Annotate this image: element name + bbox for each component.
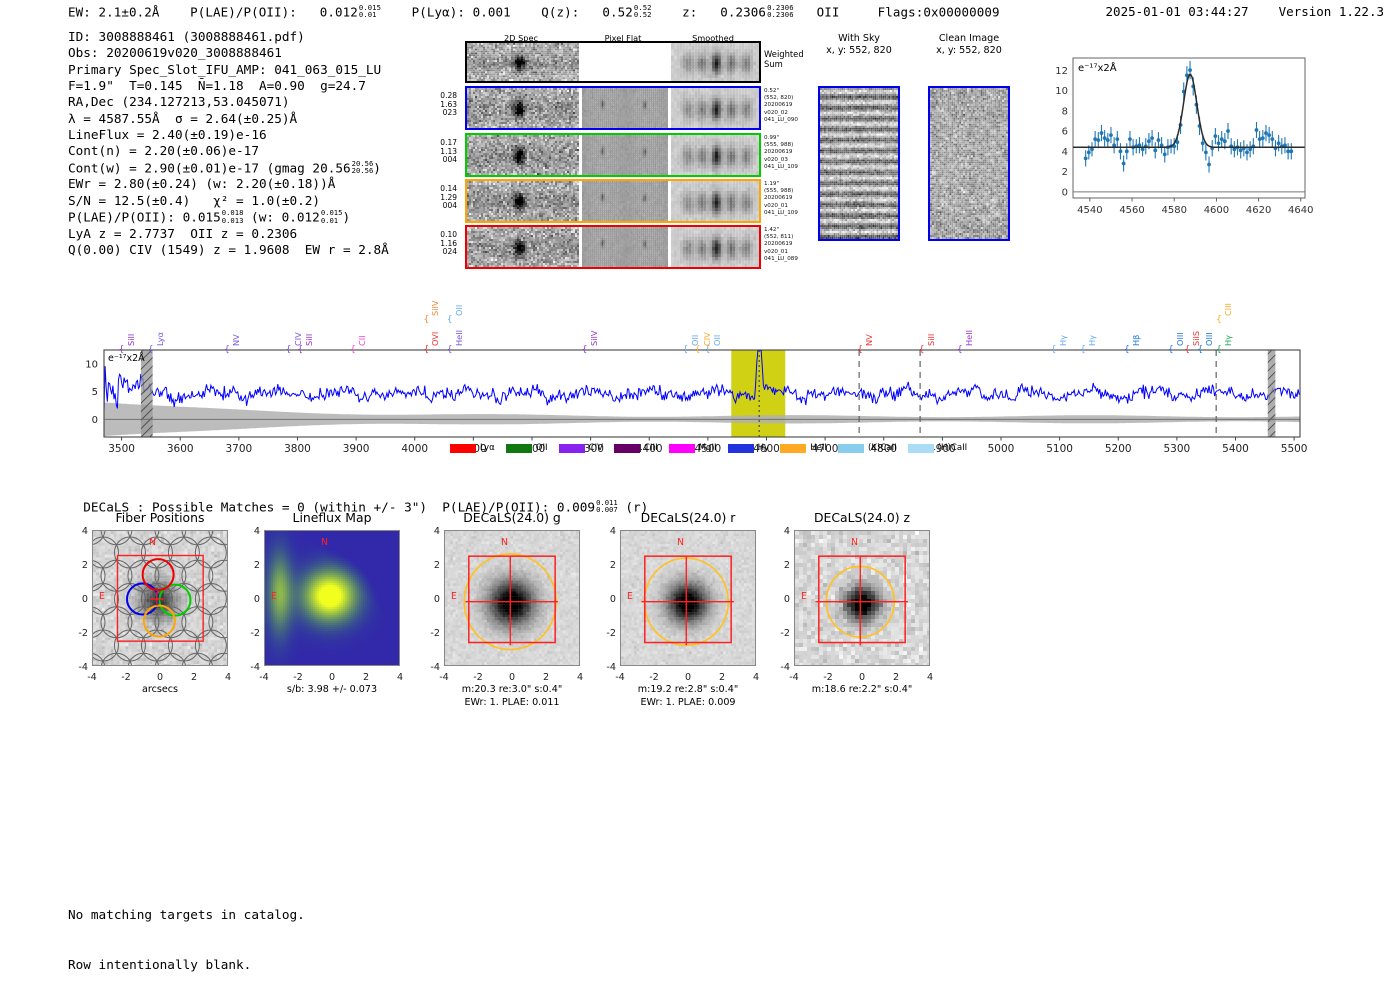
strip-row-info-line: (552, 811)	[764, 234, 826, 241]
header-ew: EW: 2.1±0.2Å	[68, 4, 160, 19]
spectrum-line-bracket-icon: {	[957, 345, 963, 355]
spectrum-legend: LyαOIICIVCIIIMgIIHyHeII(K)CaII(H)CaII	[450, 443, 967, 453]
strip-row-info-2: 0.99"(555, 988)20200619v020_03041_LU_109	[764, 135, 826, 171]
cutout-ytick: -2	[240, 628, 260, 639]
cutout-image: NE	[264, 530, 400, 666]
cutout-caption: m:19.2 re:2.8" s:0.4"EWr: 1. PLAE: 0.009	[588, 684, 788, 709]
legend-swatch	[506, 444, 532, 453]
clean-image	[928, 86, 1010, 241]
spec-strip-row-2	[465, 133, 761, 177]
header-plae-range: 0.0150.01	[359, 4, 381, 19]
cutout-xtick: -4	[610, 672, 630, 683]
cutout-ytick: -2	[596, 628, 616, 639]
strip-row-info-line: 1.19"	[764, 181, 826, 188]
spectrum-line-label: Lyα	[155, 332, 165, 346]
strip-smoothed-3	[671, 181, 759, 221]
full-spectrum-chart: 0510350036003700380039004000410042004300…	[62, 278, 1314, 463]
meta-cont-w: Cont(w) = 2.90(±0.01)e-17 (gmag 20.5620.…	[68, 160, 389, 177]
source-metadata-block: ID: 3008888461 (3008888461.pdf)Obs: 2020…	[68, 29, 389, 258]
spectrum-line-label: NV	[231, 334, 241, 346]
spectrum-line-bracket-icon: {	[447, 345, 453, 355]
cutout-ytick: 4	[770, 526, 790, 537]
weighted-sum-line: Sum	[764, 59, 804, 69]
meta-line-7: Cont(n) = 2.20(±0.06)e-17	[68, 143, 389, 159]
spectrum-line-label: OII	[712, 335, 722, 346]
spectral-strips-panel: 2D SpecPixel FlatSmoothed0.281.630230.52…	[425, 33, 760, 255]
legend-swatch	[614, 444, 640, 453]
cutout-ytick: 2	[420, 560, 440, 571]
svg-text:4: 4	[1062, 147, 1068, 158]
strip-pixelflat-3	[582, 181, 668, 221]
cutout-caption-line1: m:20.3 re:3.0" s:0.4"	[412, 684, 612, 697]
spectrum-line-label: SiIS	[1191, 331, 1201, 346]
cutout-caption: m:18.6 re:2.2" s:0.4"	[762, 684, 962, 697]
header-z-species: OII	[817, 4, 840, 19]
cutout-xtick: -4	[254, 672, 274, 683]
cutout-caption-line1: arcsecs	[60, 684, 260, 697]
cutout-panel-fiber-0: Fiber PositionsNE420-2-4-4-2024arcsecs	[60, 510, 260, 697]
cutout-caption-line1: m:19.2 re:2.8" s:0.4"	[588, 684, 788, 697]
cutout-ytick: 0	[68, 594, 88, 605]
header-qz-value: 0.52	[602, 4, 633, 19]
spectrum-trace	[104, 351, 1299, 411]
cutout-xtick: 0	[678, 672, 698, 683]
cutout-xtick: -4	[434, 672, 454, 683]
cutout-image: NE	[794, 530, 930, 666]
cutout-title: Fiber Positions	[60, 510, 260, 525]
cutout-xtick: -4	[784, 672, 804, 683]
svg-text:4600: 4600	[1204, 205, 1229, 216]
strip-row-info-line: v020_02	[764, 110, 826, 117]
strip-row-value: 004	[423, 156, 457, 165]
cutout-xtick: 4	[570, 672, 590, 683]
no-match-line-2: Row intentionally blank.	[68, 957, 305, 974]
svg-text:0: 0	[1062, 188, 1068, 199]
cutout-xtick: 4	[390, 672, 410, 683]
spectrum-line-label: HeII	[964, 330, 974, 346]
cutout-xtick: 0	[150, 672, 170, 683]
strip-row-info-4: 1.42"(552, 811)20200619v020_01041_LU_089	[764, 227, 826, 263]
cutout-title: DECaLS(24.0) g	[412, 510, 612, 525]
skyclean-coords: x, y: 552, 820	[796, 45, 922, 57]
cutout-xtick: 4	[920, 672, 940, 683]
spectrum-line-label: HeII	[454, 330, 464, 346]
spectrum-line-bracket-icon: {	[1168, 345, 1174, 355]
header-z-range: 0.23060.2306	[767, 4, 794, 19]
strip-row-info-line: (555, 988)	[764, 142, 826, 149]
meta-line-2: Primary Spec_Slot_IFU_AMP: 041_063_015_L…	[68, 62, 389, 78]
cutout-xtick: 0	[322, 672, 342, 683]
spectrum-line-bracket-icon: {	[423, 345, 429, 355]
legend-label: MgII	[699, 443, 717, 453]
cutout-caption-line1: m:18.6 re:2.2" s:0.4"	[762, 684, 962, 697]
spectrum-line-label: CIV	[702, 332, 712, 346]
svg-text:3600: 3600	[167, 443, 194, 455]
cutout-xtick: -2	[288, 672, 308, 683]
compass-north-label: N	[677, 537, 684, 548]
strip-row-info-line: 20200619	[764, 195, 826, 202]
skyclean-title-0: With Skyx, y: 552, 820	[796, 33, 922, 56]
cutout-ytick: -2	[420, 628, 440, 639]
svg-text:8: 8	[1062, 106, 1068, 117]
spectrum-line-label: Hβ	[1131, 335, 1141, 346]
no-match-line-1: No matching targets in catalog.	[68, 907, 305, 924]
full-spectrum-svg: 0510350036003700380039004000410042004300…	[62, 278, 1314, 463]
svg-text:10: 10	[85, 359, 98, 370]
legend-label: (K)CaII	[868, 443, 897, 453]
svg-text:4620: 4620	[1246, 205, 1271, 216]
svg-text:4640: 4640	[1288, 205, 1313, 216]
legend-label: OII	[536, 443, 548, 453]
legend-swatch	[838, 444, 864, 453]
svg-text:5000: 5000	[988, 443, 1015, 455]
cutout-ytick: 2	[68, 560, 88, 571]
cutout-ytick: 0	[770, 594, 790, 605]
strip-row-values-3: 0.141.29004	[423, 185, 457, 211]
svg-text:3700: 3700	[225, 443, 252, 455]
spectrum-line-bracket-icon: {	[1124, 345, 1130, 355]
strip-row-info-line: 20200619	[764, 102, 826, 109]
strip-row-info-3: 1.19"(555, 988)20200619v020_01041_LU_109	[764, 181, 826, 217]
cutout-panel-image-2: DECaLS(24.0) gNE420-2-4-4-2024m:20.3 re:…	[412, 510, 612, 709]
spectrum-line-label: OIII	[1204, 332, 1214, 346]
svg-text:4580: 4580	[1162, 205, 1187, 216]
emission-zoom-units: e⁻¹⁷x2Å	[1078, 61, 1117, 74]
legend-swatch	[780, 444, 806, 453]
strip-row-info-line: 1.42"	[764, 227, 826, 234]
cutout-ytick: 4	[240, 526, 260, 537]
spectrum-line-label: SiII	[304, 334, 314, 346]
svg-text:6: 6	[1062, 127, 1068, 138]
header-version: Version 1.22.3	[1279, 4, 1384, 19]
cutout-xtick: -2	[468, 672, 488, 683]
strip-row-info-line: 20200619	[764, 149, 826, 156]
spectrum-line-bracket-icon: {	[119, 345, 125, 355]
strip-row-info-line: 041_LU_090	[764, 117, 826, 124]
header-timestamp-version: 2025-01-01 03:44:27 Version 1.22.3	[1106, 4, 1384, 19]
strip-2dspec-0	[467, 43, 579, 81]
spectrum-line-bracket-icon: {	[705, 345, 711, 355]
spectrum-line-bracket-icon: {	[447, 315, 453, 325]
spectrum-line-label: OVI	[430, 332, 440, 346]
cutout-xtick: 0	[852, 672, 872, 683]
compass-north-label: N	[321, 537, 328, 548]
cutout-overlay	[621, 531, 756, 666]
cutout-xtick: 2	[184, 672, 204, 683]
meta-ewr: EWr = 2.80(±0.24) (w: 2.20(±0.18))Å	[68, 176, 389, 192]
svg-text:5: 5	[92, 387, 98, 398]
strip-row-values-1: 0.281.63023	[423, 92, 457, 118]
skyclean-title-text: With Sky	[796, 33, 922, 45]
strip-smoothed-4	[671, 227, 759, 267]
compass-east-label: E	[801, 591, 807, 602]
svg-text:10: 10	[1055, 86, 1068, 97]
cutout-image: NE	[620, 530, 756, 666]
spectrum-line-label: Hγ	[1087, 335, 1097, 346]
strip-row-info-line: v020_03	[764, 157, 826, 164]
compass-east-label: E	[451, 591, 457, 602]
legend-label: CIV	[589, 443, 603, 453]
cutout-ytick: 2	[240, 560, 260, 571]
cutout-caption-line2: EWr: 1. PLAE: 0.009	[588, 697, 788, 710]
spec-strip-row-3	[465, 179, 761, 223]
emission-line-zoom-chart: 024681012454045604580460046204640e⁻¹⁷x2Å	[1035, 50, 1313, 228]
legend-entry-3: CIII	[614, 443, 658, 453]
spectrum-line-bracket-icon: {	[286, 345, 292, 355]
cutout-xtick: 2	[356, 672, 376, 683]
svg-text:4540: 4540	[1077, 205, 1102, 216]
spectrum-line-bracket-icon: {	[1216, 315, 1222, 325]
meta-line-1: Obs: 20200619v020_3008888461	[68, 45, 389, 61]
spectrum-line-bracket-icon: {	[297, 345, 303, 355]
spec-strip-row-4	[465, 225, 761, 269]
spectrum-line-label: CIII	[1223, 303, 1233, 316]
strip-row-info-line: v020_01	[764, 203, 826, 210]
spectrum-line-label: NV	[864, 334, 874, 346]
cutout-xtick: 2	[536, 672, 556, 683]
legend-swatch	[728, 444, 754, 453]
cutout-ytick: 4	[596, 526, 616, 537]
meta-redshifts: LyA z = 2.7737 OII z = 0.2306	[68, 226, 389, 242]
header-plae-label: P(LAE)/P(OII):	[190, 4, 297, 19]
meta-line-0: ID: 3008888461 (3008888461.pdf)	[68, 29, 389, 45]
cutout-panel-image-4: DECaLS(24.0) zNE420-2-4-4-2024m:18.6 re:…	[762, 510, 962, 697]
spec-strip-row-0	[465, 41, 761, 83]
spectrum-line-bracket-icon: {	[1080, 345, 1086, 355]
meta-line-3: F=1.9" T=0.145 N̄=1.18 A=0.90 g=24.7	[68, 78, 389, 94]
strip-row-info-line: (552, 820)	[764, 95, 826, 102]
spectrum-line-bracket-icon: {	[1197, 345, 1203, 355]
cutout-overlay	[795, 531, 930, 666]
spectrum-line-label: CIV	[293, 332, 303, 346]
spec-strip-row-1	[465, 86, 761, 130]
cutout-xtick: -2	[818, 672, 838, 683]
cutout-panel-image-3: DECaLS(24.0) rNE420-2-4-4-2024m:19.2 re:…	[588, 510, 788, 709]
cutout-title: DECaLS(24.0) r	[588, 510, 788, 525]
strip-row-info-line: 0.52"	[764, 88, 826, 95]
masked-band-1	[1268, 350, 1276, 437]
meta-line-4: RA,Dec (234.127213,53.045071)	[68, 94, 389, 110]
cutout-title: Lineflux Map	[232, 510, 432, 525]
compass-east-label: E	[99, 591, 105, 602]
cutout-image: NE	[444, 530, 580, 666]
header-plya: P(Lyα): 0.001	[412, 4, 511, 19]
skyclean-title-text: Clean Image	[906, 33, 1032, 45]
strip-row-values-4: 0.101.16024	[423, 231, 457, 257]
legend-entry-8: (H)CaII	[908, 443, 968, 453]
spectrum-line-label: OII	[454, 305, 464, 316]
cutout-caption-line1: s/b: 3.98 +/- 0.073	[232, 684, 432, 697]
spectrum-line-label: CII	[357, 335, 367, 346]
spectrum-line-bracket-icon: {	[857, 345, 863, 355]
strip-row-info-line: v020_01	[764, 249, 826, 256]
no-match-message: No matching targets in catalog. Row inte…	[68, 874, 305, 990]
legend-swatch	[450, 444, 476, 453]
svg-text:5400: 5400	[1222, 443, 1249, 455]
strip-pixelflat-0	[582, 43, 668, 81]
cutout-xtick: -2	[644, 672, 664, 683]
strip-row-info-1: 0.52"(552, 820)20200619v020_02041_LU_090	[764, 88, 826, 124]
strip-row-value: 004	[423, 202, 457, 211]
strip-pixelflat-4	[582, 227, 668, 267]
svg-text:5100: 5100	[1046, 443, 1073, 455]
svg-text:2: 2	[1062, 167, 1068, 178]
header-timestamp: 2025-01-01 03:44:27	[1106, 4, 1249, 19]
spectrum-line-label: Hγ	[1058, 335, 1068, 346]
legend-label: (H)CaII	[938, 443, 968, 453]
cutout-ytick: 4	[68, 526, 88, 537]
meta-q-line: Q(0.00) CIV (1549) z = 1.9608 EW r = 2.8…	[68, 242, 389, 258]
legend-entry-7: (K)CaII	[838, 443, 897, 453]
strip-smoothed-0	[671, 43, 759, 81]
cutout-ytick: 0	[596, 594, 616, 605]
svg-text:5500: 5500	[1281, 443, 1308, 455]
cutout-caption: m:20.3 re:3.0" s:0.4"EWr: 1. PLAE: 0.011	[412, 684, 612, 709]
spectrum-line-bracket-icon: {	[683, 345, 689, 355]
cutout-panel-lineflux-1: Lineflux MapNE420-2-4-4-2024s/b: 3.98 +/…	[232, 510, 432, 697]
strip-row-values-2: 0.171.13004	[423, 139, 457, 165]
strip-row-info-line: 041_LU_089	[764, 256, 826, 263]
compass-east-label: E	[627, 591, 633, 602]
svg-text:4000: 4000	[401, 443, 428, 455]
strip-row-value: 024	[423, 248, 457, 257]
legend-entry-6: HeII	[780, 443, 827, 453]
cutout-ytick: 4	[420, 526, 440, 537]
strip-row-value: 023	[423, 109, 457, 118]
strip-smoothed-1	[671, 88, 759, 128]
spectrum-line-label: OIII	[1175, 332, 1185, 346]
strip-2dspec-1	[467, 88, 579, 128]
legend-entry-0: Lyα	[450, 443, 495, 453]
spectrum-line-bracket-icon: {	[148, 345, 154, 355]
spectrum-line-bracket-icon: {	[1051, 345, 1057, 355]
spectrum-line-label: SiII	[126, 334, 136, 346]
spectrum-units: e⁻¹⁷x2Å	[108, 352, 145, 364]
meta-snr: S/N = 12.5(±0.4) χ² = 1.0(±0.2)	[68, 193, 389, 209]
header-flags: Flags:0x00000009	[878, 4, 1000, 19]
header-z-value: 0.2306	[720, 4, 766, 19]
header-plae-value: 0.012	[320, 4, 358, 19]
meta-line-5: λ = 4587.55Å σ = 2.64(±0.25)Å	[68, 111, 389, 127]
cutout-ytick: -2	[770, 628, 790, 639]
strip-row-info-line: (555, 988)	[764, 188, 826, 195]
cutout-caption-line2: EWr: 1. PLAE: 0.011	[412, 697, 612, 710]
spectrum-line-bracket-icon: {	[582, 345, 588, 355]
strip-2dspec-4	[467, 227, 579, 267]
cutout-overlay	[445, 531, 580, 666]
spectrum-line-label: SiIV	[430, 301, 440, 317]
header-z-label: z:	[682, 4, 697, 19]
skyclean-coords: x, y: 552, 820	[906, 45, 1032, 57]
strip-row-info-line: 041_LU_109	[764, 164, 826, 171]
svg-text:3500: 3500	[108, 443, 135, 455]
legend-entry-2: CIV	[559, 443, 603, 453]
cutout-title: DECaLS(24.0) z	[762, 510, 962, 525]
compass-north-label: N	[501, 537, 508, 548]
cutout-ytick: -2	[68, 628, 88, 639]
svg-text:12: 12	[1055, 66, 1068, 77]
cutout-xtick: 0	[502, 672, 522, 683]
spectrum-line-bracket-icon: {	[350, 345, 356, 355]
legend-label: HeII	[810, 443, 827, 453]
cutout-xtick: -2	[116, 672, 136, 683]
cutout-ytick: 0	[420, 594, 440, 605]
emission-zoom-svg: 024681012454045604580460046204640e⁻¹⁷x2Å	[1035, 50, 1313, 228]
spectrum-line-label: SiII	[926, 334, 936, 346]
compass-north-label: N	[149, 537, 156, 548]
meta-plae-poii: P(LAE)/P(OII): 0.0150.0180.013 (w: 0.012…	[68, 209, 389, 226]
cutout-ytick: 2	[596, 560, 616, 571]
legend-swatch	[669, 444, 695, 453]
skyclean-title-1: Clean Imagex, y: 552, 820	[906, 33, 1032, 56]
cutout-ytick: 0	[240, 594, 260, 605]
strip-row-info-line: 20200619	[764, 241, 826, 248]
strip-2dspec-2	[467, 135, 579, 175]
svg-text:3900: 3900	[343, 443, 370, 455]
spectrum-line-bracket-icon: {	[919, 345, 925, 355]
strip-pixelflat-2	[582, 135, 668, 175]
spectrum-line-bracket-icon: {	[224, 345, 230, 355]
legend-label: Lyα	[480, 443, 495, 453]
spectrum-line-label: SiIV	[589, 331, 599, 347]
svg-text:5300: 5300	[1164, 443, 1191, 455]
cutout-ytick: 2	[770, 560, 790, 571]
fiber-overlay	[93, 531, 228, 666]
svg-text:4560: 4560	[1119, 205, 1144, 216]
compass-east-label: E	[271, 591, 277, 602]
strip-smoothed-2	[671, 135, 759, 175]
spectrum-line-bracket-icon: {	[423, 315, 429, 325]
strip-row-info-line: 041_LU_109	[764, 210, 826, 217]
cutout-caption: s/b: 3.98 +/- 0.073	[232, 684, 432, 697]
svg-text:3800: 3800	[284, 443, 311, 455]
strip-pixelflat-1	[582, 88, 668, 128]
svg-text:5200: 5200	[1105, 443, 1132, 455]
spectrum-line-bracket-icon: {	[1216, 345, 1222, 355]
compass-north-label: N	[851, 537, 858, 548]
legend-entry-4: MgII	[669, 443, 717, 453]
cutout-image: NE	[92, 530, 228, 666]
legend-entry-5: Hy	[728, 443, 770, 453]
cutout-xtick: -4	[82, 672, 102, 683]
spectrum-line-label: Hγ	[1223, 335, 1233, 346]
strip-row-info-line: 0.99"	[764, 135, 826, 142]
legend-label: CIII	[644, 443, 658, 453]
spectrum-line-bracket-icon: {	[1184, 345, 1190, 355]
legend-swatch	[908, 444, 934, 453]
meta-line-6: LineFlux = 2.40(±0.19)e-16	[68, 127, 389, 143]
header-qz-range: 0.520.52	[634, 4, 652, 19]
spectrum-line-bracket-icon: {	[695, 345, 701, 355]
header-summary-line: EW: 2.1±0.2Å P(LAE)/P(OII): 0.0120.0150.…	[68, 4, 1000, 19]
legend-swatch	[559, 444, 585, 453]
strip-2dspec-3	[467, 181, 579, 221]
legend-label: Hy	[758, 443, 770, 453]
cutout-caption: arcsecs	[60, 684, 260, 697]
svg-text:0: 0	[92, 415, 98, 426]
cutout-xtick: 2	[712, 672, 732, 683]
cutout-xtick: 2	[886, 672, 906, 683]
legend-entry-1: OII	[506, 443, 548, 453]
with-sky-image	[818, 86, 900, 241]
header-qz-label: Q(z):	[541, 4, 579, 19]
